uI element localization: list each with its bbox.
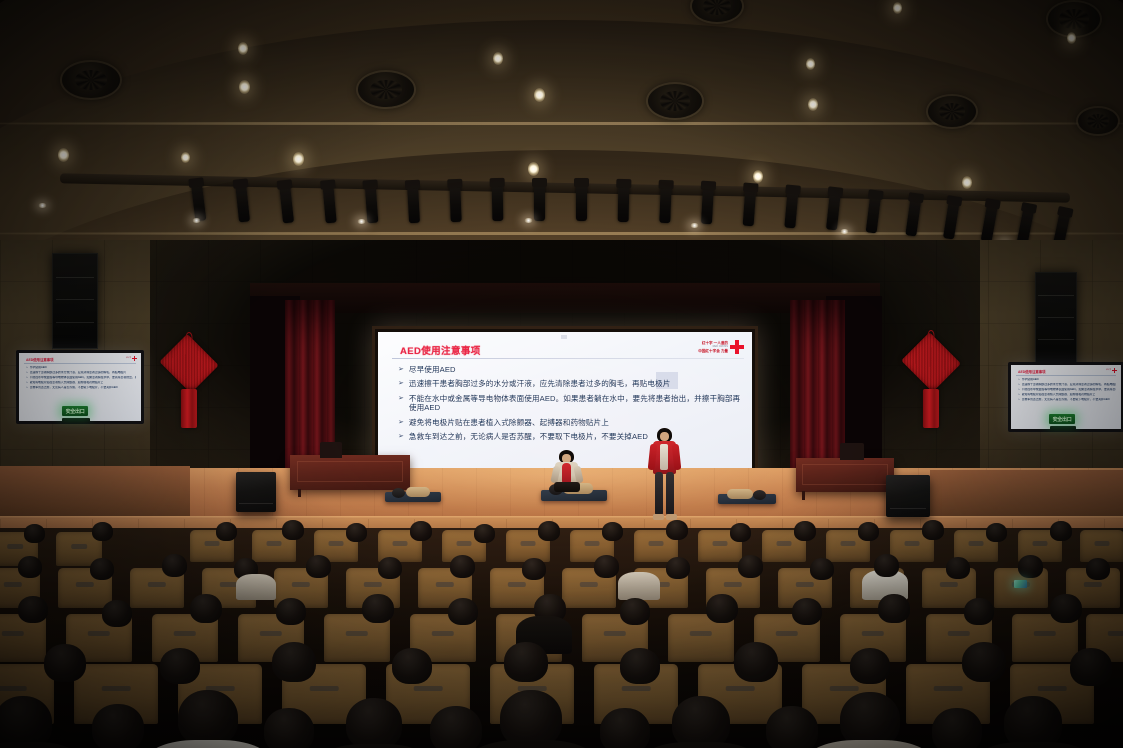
slide-bullet: ➢ 急救车到达之前，无论病人是否苏醒，不要取下电极片，不要关掉AED bbox=[398, 432, 742, 442]
audience-shoulders bbox=[236, 574, 276, 600]
audience-shoulders bbox=[146, 740, 270, 748]
audience-phone-screen bbox=[1014, 580, 1027, 588]
stage-par-light bbox=[981, 201, 999, 242]
bullet-marker-icon: ➢ bbox=[398, 365, 404, 375]
stage-par-light bbox=[784, 188, 798, 229]
par-light-beam bbox=[38, 203, 47, 208]
audience-head bbox=[730, 523, 751, 542]
air-vent-icon bbox=[648, 84, 702, 118]
red-cross-icon bbox=[1112, 368, 1117, 373]
par-light-beam bbox=[524, 218, 533, 223]
audience-head bbox=[922, 520, 944, 540]
slide-bullet: ➢ 不能在水中或金属等导电物体表面使用AED。如果患者躺在水中，要先将患者抬出，… bbox=[398, 394, 742, 414]
audience-shoulders bbox=[318, 744, 430, 748]
audience-shoulders bbox=[806, 740, 932, 748]
audience-head bbox=[346, 698, 402, 748]
audience-head bbox=[306, 555, 331, 578]
audience-head bbox=[666, 520, 688, 540]
left-monitor-logo: 红十字 bbox=[126, 356, 137, 361]
ceiling-downlight bbox=[806, 58, 815, 70]
exit-sign-label: 安全出口 bbox=[1053, 416, 1072, 423]
audience-head bbox=[282, 520, 304, 540]
audience-head bbox=[18, 596, 48, 623]
audience-head bbox=[102, 600, 132, 627]
audience-head bbox=[986, 523, 1007, 542]
exit-sign-right: 安全出口 bbox=[1049, 414, 1075, 424]
audience-head bbox=[734, 642, 778, 682]
chinese-knot-decoration-right bbox=[900, 334, 962, 428]
par-light-beam bbox=[357, 219, 366, 224]
air-vent-icon bbox=[928, 96, 976, 127]
air-vent-icon bbox=[1078, 108, 1118, 134]
stage-speaker-left bbox=[236, 472, 276, 512]
presenter-red-stripe bbox=[562, 463, 571, 483]
ceiling-downlight bbox=[893, 2, 902, 14]
audience-shoulders bbox=[618, 572, 660, 600]
stage-par-light bbox=[492, 181, 504, 221]
audience-head bbox=[538, 521, 560, 541]
slide-bullet-text: 尽早使用AED bbox=[409, 365, 456, 375]
ceiling-downlight bbox=[58, 148, 69, 162]
audience-head bbox=[878, 594, 910, 623]
slide-title: AED使用注意事项 bbox=[400, 343, 481, 357]
audience-head bbox=[1004, 696, 1062, 748]
audience-head bbox=[874, 554, 899, 577]
air-vent-icon bbox=[62, 62, 120, 98]
audience-shoulders bbox=[974, 742, 1094, 748]
presenter-legs-kneeling bbox=[554, 482, 580, 492]
slide-title-rule bbox=[392, 358, 744, 359]
left-monitor-bullets: ➢尽早使用AED ➢迅速擦干患者胸部过多的水分或汗液，应先清除患者过多的胸毛，再… bbox=[26, 366, 136, 391]
chinese-knot-decoration-left bbox=[158, 336, 220, 428]
audience-shoulders bbox=[640, 742, 760, 748]
presenter-shoe bbox=[653, 514, 664, 520]
slide-bullet: ➢ 尽早使用AED bbox=[398, 365, 742, 375]
podium-leg bbox=[802, 491, 805, 500]
presenter-leg bbox=[666, 472, 674, 516]
podium-right bbox=[796, 458, 894, 492]
cpr-manikin-head bbox=[753, 490, 766, 500]
ceiling-downlight bbox=[293, 152, 304, 166]
stage-par-light bbox=[407, 183, 420, 224]
audience-shoulders bbox=[468, 740, 596, 748]
right-monitor-bullets: ➢尽早使用AED ➢迅速擦干患者胸部过多的水分或汗液，应先清除患者过多的胸毛，再… bbox=[1018, 378, 1116, 403]
audience-head bbox=[44, 644, 86, 682]
ceiling-downlight bbox=[808, 98, 818, 111]
stage-par-light bbox=[943, 198, 960, 239]
air-vent-icon bbox=[1048, 2, 1100, 36]
presenter-jacket-placket bbox=[660, 444, 668, 470]
air-vent-icon bbox=[358, 72, 414, 107]
audience-head bbox=[964, 598, 994, 625]
audience-head bbox=[346, 523, 367, 542]
audience-head bbox=[362, 594, 394, 623]
stage-par-light bbox=[235, 182, 250, 223]
par-light-beam bbox=[690, 223, 699, 228]
audience-head bbox=[178, 690, 238, 746]
audience-head bbox=[962, 642, 1006, 682]
audience-head bbox=[1050, 521, 1072, 541]
cpr-manikin-torso bbox=[406, 487, 430, 497]
audience-head bbox=[272, 642, 316, 682]
audience-head bbox=[706, 594, 738, 623]
stage-par-light bbox=[743, 186, 757, 227]
audience-head bbox=[92, 704, 144, 748]
audience-head bbox=[792, 598, 822, 625]
auditorium-scene: AED使用注意事项 红十字 ➢尽早使用AED ➢迅速擦干患者胸部过多的水分或汗液… bbox=[0, 0, 1123, 748]
audience-head bbox=[932, 708, 982, 748]
audience-head bbox=[162, 554, 187, 577]
stage-par-light bbox=[191, 180, 207, 221]
ceiling-downlight bbox=[493, 52, 503, 65]
red-cross-icon bbox=[730, 340, 744, 354]
left-monitor-mount bbox=[62, 418, 90, 423]
audience-head bbox=[504, 642, 548, 682]
presenter-arm bbox=[672, 444, 682, 471]
podium-left bbox=[290, 455, 410, 490]
ceiling-downlight bbox=[239, 80, 250, 94]
right-monitor-mount bbox=[1050, 426, 1076, 431]
chair-right bbox=[840, 443, 864, 460]
podium-leg bbox=[298, 489, 301, 497]
seat bbox=[1080, 530, 1123, 562]
audience-head bbox=[666, 557, 690, 579]
slide-bullet: ➢ 避免将电极片贴在患者植入式除颤器、起搏器和药物贴片上 bbox=[398, 418, 742, 428]
audience-head bbox=[810, 558, 834, 580]
cpr-manikin-head bbox=[392, 488, 405, 498]
slide-bullet-text: 急救车到达之前，无论病人是否苏醒，不要取下电极片，不要关掉AED bbox=[409, 432, 648, 442]
audience-head bbox=[276, 598, 306, 625]
stage-par-light bbox=[618, 182, 630, 222]
audience-head bbox=[1050, 594, 1082, 623]
wall-speaker-left bbox=[52, 253, 98, 349]
par-light-beam bbox=[192, 218, 201, 223]
audience-head bbox=[378, 557, 402, 579]
audience-head bbox=[594, 555, 619, 578]
par-light-beam bbox=[840, 229, 849, 234]
audience-seating-area bbox=[0, 528, 1123, 748]
ceiling-downlight bbox=[1067, 32, 1076, 44]
presenter-kneeling bbox=[549, 450, 585, 492]
left-monitor-rule bbox=[24, 363, 136, 364]
chair-left bbox=[320, 442, 342, 458]
audience-head bbox=[474, 524, 495, 543]
slide-top-marker bbox=[561, 335, 567, 339]
audience-head bbox=[620, 648, 660, 684]
audience-head bbox=[392, 648, 432, 684]
bullet-marker-icon: ➢ bbox=[398, 379, 404, 389]
audience-head bbox=[216, 522, 237, 541]
stage-par-light bbox=[322, 183, 336, 224]
stage-par-light bbox=[279, 183, 294, 224]
audience-head bbox=[160, 648, 200, 684]
ceiling-downlight bbox=[238, 42, 248, 55]
audience-head bbox=[946, 557, 970, 579]
red-cross-logo: 红十字 一人道的 RED CROSS 中国红十字会 力量 bbox=[698, 340, 744, 354]
audience-head bbox=[92, 522, 113, 541]
audience-head bbox=[858, 522, 879, 541]
slide-bullet: ➢ 迅速擦干患者胸部过多的水分或汗液，应先清除患者过多的胸毛，再贴电极片 bbox=[398, 379, 742, 389]
audience-head bbox=[410, 521, 432, 541]
wall-speaker-right bbox=[1035, 272, 1077, 366]
audience-head bbox=[18, 556, 42, 578]
audience-head bbox=[0, 696, 52, 748]
audience-head bbox=[600, 708, 650, 748]
audience-head bbox=[620, 598, 650, 625]
presenter-face bbox=[660, 432, 669, 441]
exit-sign-left: 安全出口 bbox=[62, 406, 88, 416]
audience-head bbox=[1018, 555, 1043, 578]
audience-head bbox=[430, 706, 482, 748]
ceiling-downlight bbox=[528, 162, 539, 176]
ceiling-downlight bbox=[534, 88, 545, 102]
stage-par-light bbox=[449, 182, 461, 222]
ceiling-downlight bbox=[181, 152, 190, 163]
audience-head bbox=[264, 708, 314, 748]
stage-par-light bbox=[659, 183, 671, 223]
audience-head bbox=[24, 524, 45, 543]
proscenium-header bbox=[250, 283, 880, 313]
bullet-marker-icon: ➢ bbox=[398, 432, 404, 442]
audience-head bbox=[448, 598, 478, 625]
audience-head bbox=[1086, 558, 1110, 580]
audience-head bbox=[672, 696, 730, 748]
right-monitor-rule bbox=[1016, 375, 1116, 376]
logo-text: 红十字 一人道的 RED CROSS 中国红十字会 力量 bbox=[698, 341, 728, 353]
presenter-leg bbox=[655, 472, 663, 516]
audience-head bbox=[766, 706, 818, 748]
left-monitor-title: AED使用注意事项 bbox=[26, 357, 54, 362]
presenter-standing bbox=[648, 428, 680, 523]
exit-sign-label: 安全出口 bbox=[66, 408, 85, 415]
audience-head bbox=[1070, 648, 1112, 686]
bullet-marker-icon: ➢ bbox=[398, 418, 404, 428]
slide-bullet-text: 迅速擦干患者胸部过多的水分或汗液，应先清除患者过多的胸毛，再贴电极片 bbox=[409, 379, 671, 389]
stage-par-light bbox=[905, 195, 921, 236]
audience-head bbox=[90, 558, 114, 580]
audience-head bbox=[190, 594, 222, 623]
slide-bullet-text: 避免将电极片贴在患者植入式除颤器、起搏器和药物贴片上 bbox=[409, 418, 609, 428]
stage-par-light bbox=[534, 181, 545, 221]
audience-head bbox=[450, 555, 475, 578]
red-cross-icon bbox=[132, 356, 137, 361]
audience-head bbox=[738, 555, 763, 578]
cpr-manikin-torso bbox=[727, 489, 753, 499]
right-monitor-title: AED使用注意事项 bbox=[1018, 369, 1046, 374]
right-monitor-logo: 红十字 bbox=[1106, 368, 1117, 373]
slide-bullet-list: ➢ 尽早使用AED ➢ 迅速擦干患者胸部过多的水分或汗液，应先清除患者过多的胸毛… bbox=[398, 365, 742, 446]
audience-shoulders bbox=[0, 742, 82, 748]
audience-head bbox=[602, 522, 623, 541]
stage-par-light bbox=[576, 181, 587, 221]
stage-par-light bbox=[701, 184, 714, 225]
bullet-marker-icon: ➢ bbox=[398, 394, 404, 414]
slide-bullet-text: 不能在水中或金属等导电物体表面使用AED。如果患者躺在水中，要先将患者抬出，并擦… bbox=[409, 394, 742, 414]
stage-speaker-right bbox=[886, 475, 930, 517]
audience-head bbox=[522, 558, 546, 580]
audience-head bbox=[794, 521, 816, 541]
audience-head bbox=[850, 648, 890, 684]
